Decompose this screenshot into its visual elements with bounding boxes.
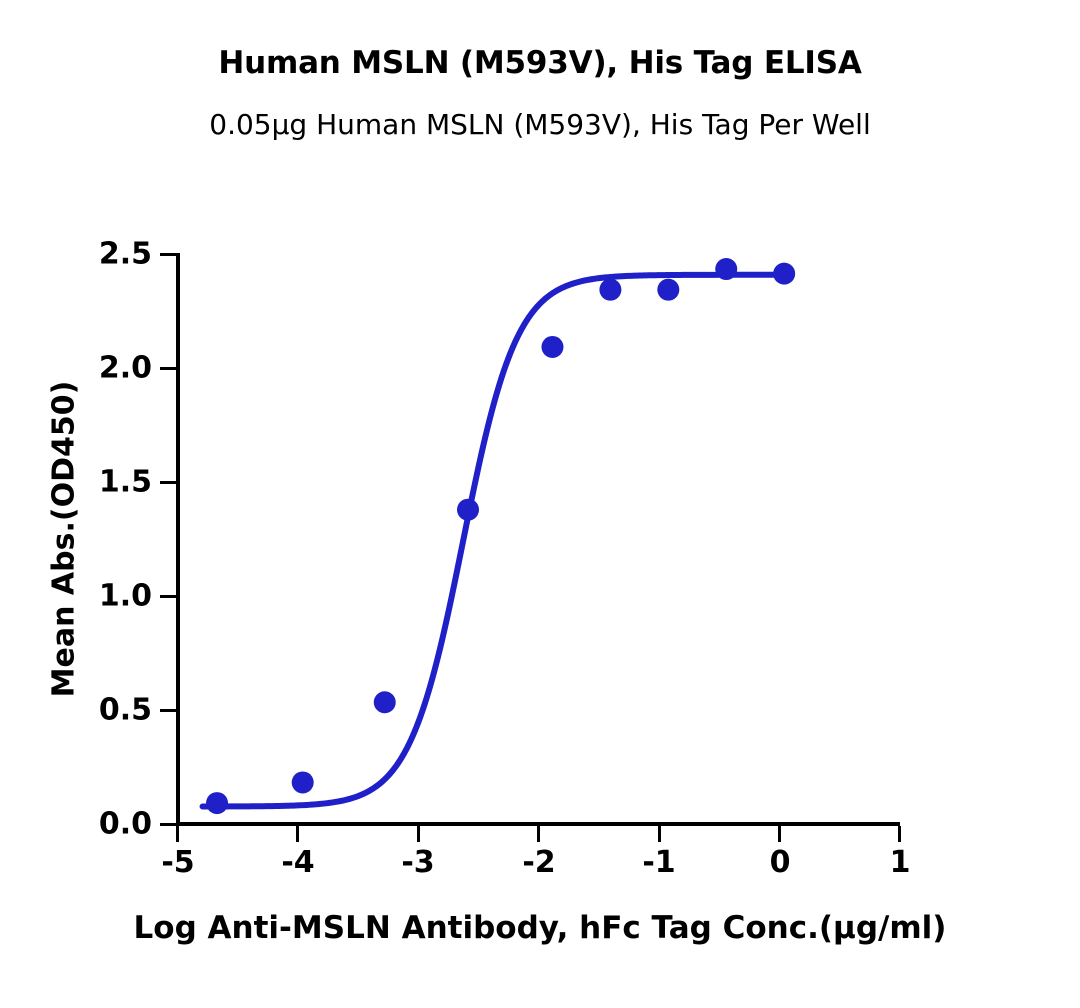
x-tick-0 (176, 826, 179, 842)
data-point (657, 279, 679, 301)
data-point (773, 263, 795, 285)
data-point (206, 792, 228, 814)
x-tick-label-6: 1 (890, 845, 911, 880)
data-point-group (206, 258, 795, 814)
y-tick-4 (160, 367, 176, 370)
data-point (541, 336, 563, 358)
x-tick-label-1: -4 (281, 845, 314, 880)
x-axis-title: Log Anti-MSLN Antibody, hFc Tag Conc.(μg… (0, 910, 1080, 946)
y-tick-0 (160, 823, 176, 826)
chart-subtitle: 0.05μg Human MSLN (M593V), His Tag Per W… (0, 108, 1080, 141)
y-tick-label-4: 2.0 (99, 351, 152, 386)
x-tick-4 (658, 826, 661, 842)
y-tick-5 (160, 253, 176, 256)
y-tick-label-1: 0.5 (99, 693, 152, 728)
sigmoid-fit-curve (203, 275, 792, 807)
data-point (374, 691, 396, 713)
x-tick-3 (537, 826, 540, 842)
x-tick-1 (296, 826, 299, 842)
data-point (599, 279, 621, 301)
y-axis-title: Mean Abs.(OD450) (47, 381, 82, 698)
x-tick-label-4: -1 (642, 845, 675, 880)
x-tick-label-2: -3 (401, 845, 434, 880)
x-tick-2 (417, 826, 420, 842)
x-tick-6 (898, 826, 901, 842)
y-tick-3 (160, 481, 176, 484)
chart-title: Human MSLN (M593V), His Tag ELISA (0, 45, 1080, 81)
x-tick-label-3: -2 (522, 845, 555, 880)
elisa-chart: Human MSLN (M593V), His Tag ELISA 0.05μg… (0, 0, 1080, 1008)
data-point (292, 771, 314, 793)
y-tick-label-2: 1.0 (99, 579, 152, 614)
x-tick-5 (778, 826, 781, 842)
y-tick-label-5: 2.5 (99, 237, 152, 272)
x-tick-label-0: -5 (161, 845, 194, 880)
y-tick-label-0: 0.0 (99, 807, 152, 842)
y-tick-1 (160, 709, 176, 712)
plot-area: Mean Abs.(OD450) 0.0 0.5 1.0 1.5 2.0 2.5… (176, 253, 900, 826)
x-tick-label-5: 0 (770, 845, 791, 880)
y-tick-label-3: 1.5 (99, 465, 152, 500)
data-point (457, 499, 479, 521)
data-series-layer (176, 253, 900, 826)
y-tick-2 (160, 595, 176, 598)
data-point (715, 258, 737, 280)
